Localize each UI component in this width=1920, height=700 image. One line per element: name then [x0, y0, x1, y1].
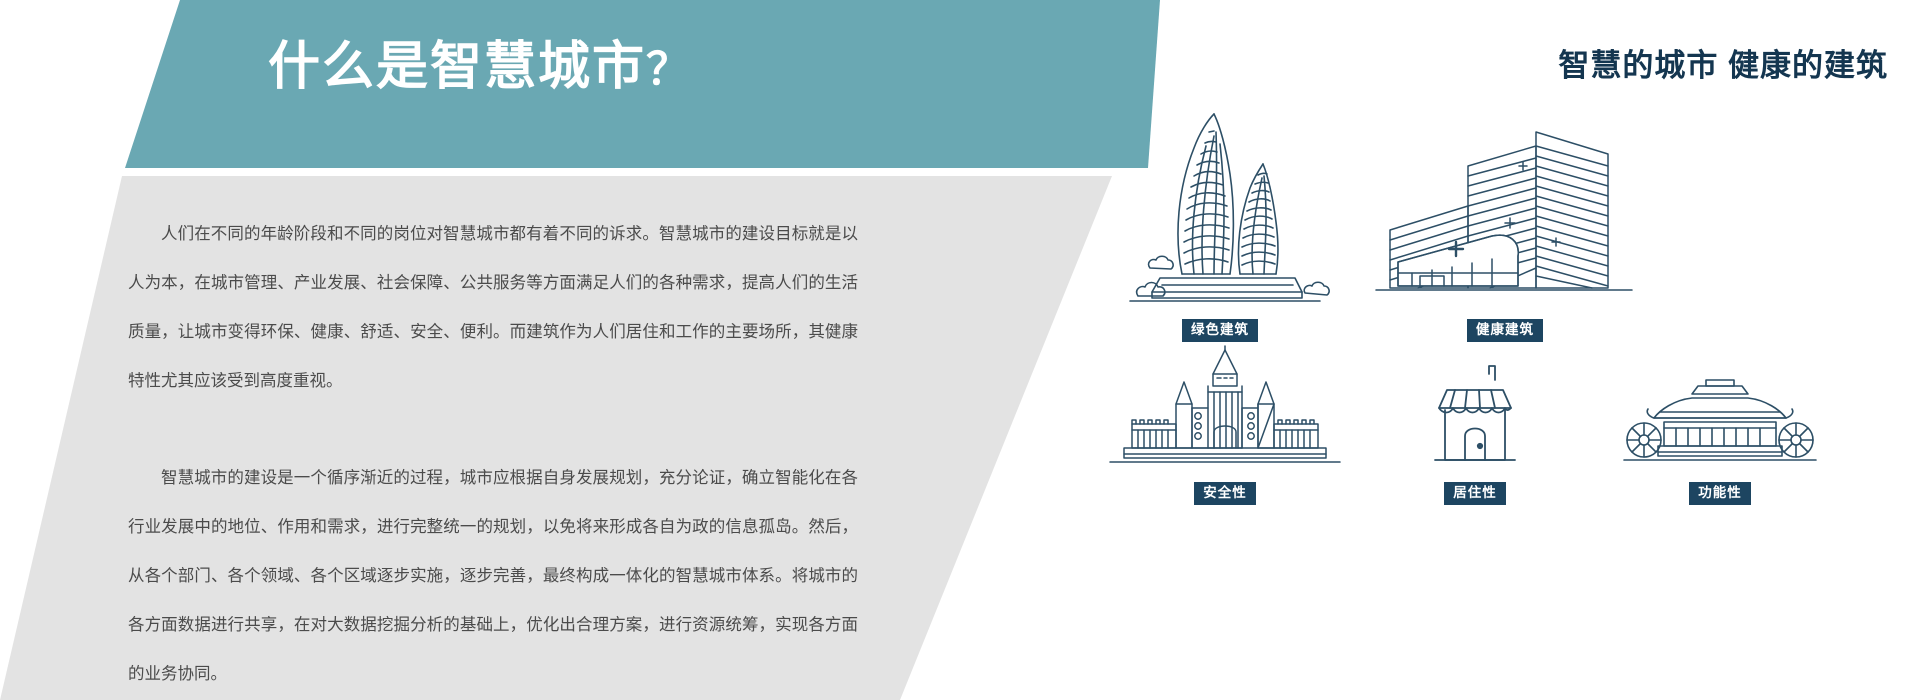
page-title-question-mark: ？: [646, 45, 692, 94]
page-title: 什么是智慧城市？: [268, 36, 692, 98]
illustration-gallery: 绿色建筑: [1120, 96, 1920, 700]
illustration-label-healthy-building: 健康建筑: [1467, 319, 1543, 342]
paragraph-2: 智慧城市的建设是一个循序渐近的过程，城市应根据自身发展规划，充分论证，确立智能化…: [128, 454, 858, 699]
illustration-safety: 安全性: [1080, 344, 1370, 505]
label-wrapper-healthy-building: 健康建筑: [1360, 319, 1650, 342]
illustration-functionality: 功能性: [1620, 368, 1820, 505]
label-wrapper-functionality: 功能性: [1620, 482, 1820, 505]
hospital-complex-icon: [1360, 110, 1650, 311]
paragraph-1: 人们在不同的年龄阶段和不同的岗位对智慧城市都有着不同的诉求。智慧城市的建设目标就…: [128, 210, 858, 406]
page-title-text: 什么是智慧城市: [268, 38, 646, 96]
content-text-block: 人们在不同的年龄阶段和不同的岗位对智慧城市都有着不同的诉求。智慧城市的建设目标就…: [128, 210, 858, 699]
illustration-label-safety: 安全性: [1194, 482, 1256, 505]
pavilion-icon: [1620, 368, 1820, 474]
label-wrapper-livability: 居住性: [1395, 482, 1555, 505]
label-wrapper-safety: 安全性: [1080, 482, 1370, 505]
illustration-livability: 居住性: [1395, 364, 1555, 505]
label-wrapper-green-building: 绿色建筑: [1090, 319, 1350, 342]
illustration-green-building: 绿色建筑: [1090, 96, 1350, 342]
illustration-label-livability: 居住性: [1444, 482, 1506, 505]
castle-icon: [1080, 344, 1370, 474]
house-icon: [1395, 364, 1555, 474]
twisted-towers-icon: [1090, 96, 1350, 311]
illustration-label-green-building: 绿色建筑: [1182, 319, 1258, 342]
illustration-healthy-building: 健康建筑: [1360, 110, 1650, 342]
slogan-title: 智慧的城市 健康的建筑: [1558, 40, 1888, 85]
illustration-label-functionality: 功能性: [1689, 482, 1751, 505]
